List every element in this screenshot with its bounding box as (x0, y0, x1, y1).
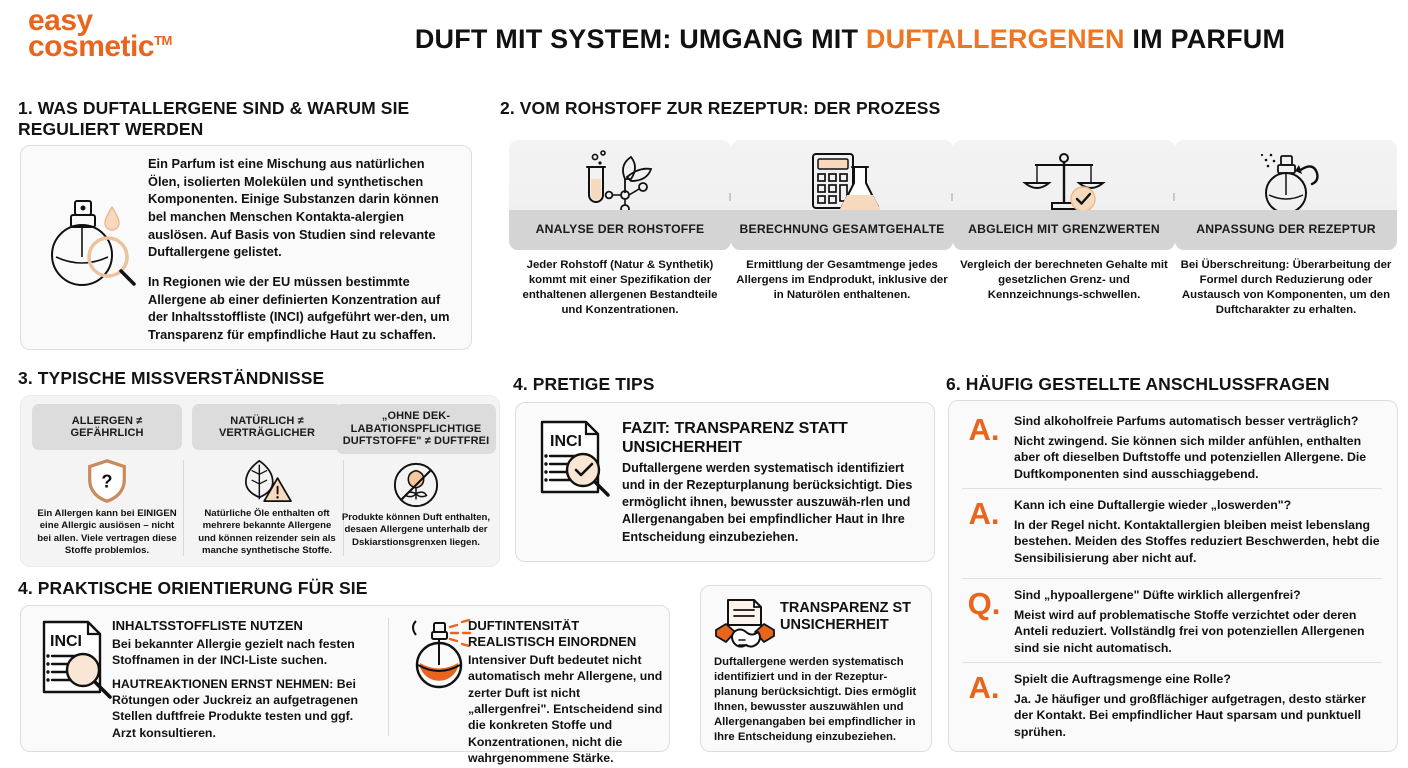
misconception-1-label: ALLERGEN ≠ GEFÄHRLICH (32, 404, 182, 450)
misconception-3-text: Produkte können Duft enthalten, desaen A… (336, 512, 496, 549)
process-step-2-caption: Ermittlung der Gesamtmenge jedes Allerge… (731, 258, 953, 303)
process-step-3-label: ABGLEICH MIT GRENZWERTEN (953, 210, 1175, 250)
balance-scale-check-icon (953, 146, 1175, 218)
misconception-1: ALLERGEN ≠ GEFÄHRLICH ? Ein Allergen kan… (32, 404, 182, 558)
section4-practice-heading: 4. PRAKTISCHE ORIENTIERUNG FÜR SIE (18, 578, 538, 599)
faq-item-3: Q. Sind „hypoallergene" Düfte wirklich a… (962, 588, 1382, 662)
faq-divider-2 (962, 578, 1382, 579)
faq-question-1: Sind alkoholfreie Parfums automatisch be… (1014, 414, 1376, 429)
faq-question-2: Kann ich eine Duftallergie wieder „loswe… (1014, 498, 1376, 513)
misconception-2-label: NATÜRLICH ≠ VERTRÄGLICHER (192, 404, 342, 450)
misconception-1-text: Ein Allergen kann bei EINIGEN eine Aller… (32, 508, 182, 558)
process-step-4: ANPASSUNG DER REZEPTUR Bei Überschreitun… (1175, 140, 1397, 318)
misconception-2: NATÜRLICH ≠ VERTRÄGLICHER Natürliche Öle… (192, 404, 342, 558)
process-step-1-label: ANALYSE DER ROHSTOFFE (509, 210, 731, 250)
process-step-1-caption: Jeder Rohstoff (Natur & Synthetik) kommt… (509, 258, 731, 318)
shield-question-icon: ? (32, 454, 182, 508)
calculator-flask-icon (731, 146, 953, 218)
practice-item-3-title: DUFTINTENSITÄT REALISTISCH EINORDNEN (468, 618, 668, 649)
logo-line-2: cosmeticTM (28, 34, 172, 60)
inci-document-magnifier-icon: INCI (36, 618, 118, 700)
practice-divider (388, 618, 389, 736)
faq-answer-3: Meist wird auf problematische Stoffe ver… (1014, 607, 1380, 656)
faq-mark-3: Q. (962, 590, 1006, 618)
title-part-2: IM PARFUM (1125, 24, 1285, 54)
svg-text:?: ? (101, 471, 112, 492)
svg-text:INCI: INCI (50, 633, 82, 650)
faq-answer-1: Nicht zwingend. Sie können sich milder a… (1014, 433, 1380, 482)
transparency-title: TRANSPARENZ ST UNSICHERHEIT (780, 600, 928, 633)
flower-crossed-out-icon (336, 458, 496, 512)
page-title: DUFT MIT SYSTEM: UMGANG MIT DUFTALLERGEN… (300, 24, 1400, 55)
process-step-1-tile: ANALYSE DER ROHSTOFFE (509, 140, 731, 250)
misconception-3-label: „OHNE DEK-LABATIONSPFLICHTIGE DUFTSTOFFE… (336, 404, 496, 454)
faq-answer-2: In der Regel nicht. Kontaktallergien ble… (1014, 517, 1380, 566)
section1-heading: 1. WAS DUFTALLERGENE SIND & WARUM SIE RE… (18, 98, 468, 139)
title-part-1: DUFT MIT SYSTEM: UMGANG MIT (415, 24, 866, 54)
handshake-document-icon (714, 596, 776, 658)
misconception-divider-1 (183, 460, 184, 556)
misconception-2-text: Natürliche Öle enthalten oft mehrere bek… (192, 508, 342, 558)
faq-divider-3 (962, 662, 1382, 663)
section1-body: Ein Parfum ist eine Mischung aus natürli… (148, 155, 458, 344)
perfume-bottle-magnifier-icon (34, 185, 144, 295)
faq-divider-1 (962, 488, 1382, 489)
faq-question-3: Sind „hypoallergene" Düfte wirklich alle… (1014, 588, 1376, 603)
section2-heading: 2. VOM ROHSTOFF ZUR REZEPTUR: DER PROZES… (500, 98, 1060, 119)
svg-text:INCI: INCI (550, 433, 582, 450)
process-step-2: BERECHNUNG GESAMTGEHALTE Ermittlung der … (731, 140, 953, 303)
process-step-2-tile: BERECHNUNG GESAMTGEHALTE (731, 140, 953, 250)
logo-trademark: TM (154, 33, 172, 48)
faq-question-4: Spielt die Auftragsmenge eine Rolle? (1014, 672, 1376, 687)
section4-tips-body: Duftallergene werden systematisch identi… (622, 460, 924, 546)
test-tube-plant-molecule-icon (509, 146, 731, 218)
process-step-3: ABGLEICH MIT GRENZWERTEN Vergleich der b… (953, 140, 1175, 303)
section6-heading: 6. HÄUFIG GESTELLTE ANSCHLUSSFRAGEN (946, 374, 1406, 395)
misconception-3: „OHNE DEK-LABATIONSPFLICHTIGE DUFTSTOFFE… (336, 404, 496, 549)
process-step-4-label: ANPASSUNG DER REZEPTUR (1175, 210, 1397, 250)
section4-tips-heading: 4. PRETIGE TIPS (513, 374, 933, 395)
process-step-4-tile: ANPASSUNG DER REZEPTUR (1175, 140, 1397, 250)
process-step-2-label: BERECHNUNG GESAMTGEHALTE (731, 210, 953, 250)
practice-item-2-title: HAUTREAKTIONEN ERNST NEHMEN: (112, 677, 333, 691)
faq-mark-4: A. (962, 674, 1006, 702)
practice-item-1-title: INHALTSSTOFFLISTE NUTZEN (112, 618, 372, 634)
section4-tips-title: FAZIT: TRANSPARENZ STATT UNSICHERHEIT (622, 420, 918, 457)
practice-item-3-body: Intensiver Duft bedeutet nicht automatis… (468, 652, 664, 766)
faq-mark-1: A. (962, 416, 1006, 444)
header: easy cosmeticTM DUFT MIT SYSTEM: UMGANG … (0, 0, 1408, 88)
section1-paragraph-2: In Regionen wie der EU müssen bestimmte … (148, 273, 458, 344)
faq-item-2: A. Kann ich eine Duftallergie wieder „lo… (962, 498, 1382, 572)
title-highlight: DUFTALLERGENEN (866, 24, 1125, 54)
section1-paragraph-1: Ein Parfum ist eine Mischung aus natürli… (148, 155, 458, 261)
faq-item-4: A. Spielt die Auftragsmenge eine Rolle? … (962, 672, 1382, 746)
brand-logo: easy cosmeticTM (28, 8, 172, 61)
process-step-1: ANALYSE DER ROHSTOFFE Jeder Rohstoff (Na… (509, 140, 731, 318)
transparency-body: Duftallergene werden systematisch identi… (714, 655, 920, 745)
faq-item-1: A. Sind alkoholfreie Parfums automatisch… (962, 414, 1382, 488)
practice-item-1-body: Bei bekannter Allergie gezielt nach fest… (112, 636, 377, 668)
infographic-page: easy cosmeticTM DUFT MIT SYSTEM: UMGANG … (0, 0, 1408, 768)
section3-heading: 3. TYPISCHE MISSVERSTÄNDNISSE (18, 368, 498, 389)
faq-mark-2: A. (962, 500, 1006, 528)
leaf-warning-icon (192, 454, 342, 508)
inci-document-check-icon: INCI (534, 418, 616, 500)
faq-answer-4: Ja. Je häufiger und großflächiger aufget… (1014, 691, 1380, 740)
process-step-3-caption: Vergleich der berechneten Gehalte mit ge… (953, 258, 1175, 303)
process-step-4-caption: Bei Überschreitung: Überarbeitung der Fo… (1175, 258, 1397, 318)
process-step-3-tile: ABGLEICH MIT GRENZWERTEN (953, 140, 1175, 250)
perfume-bottle-refresh-icon (1175, 146, 1397, 218)
practice-item-2: HAUTREAKTIONEN ERNST NEHMEN: Bei Rötunge… (112, 676, 380, 741)
